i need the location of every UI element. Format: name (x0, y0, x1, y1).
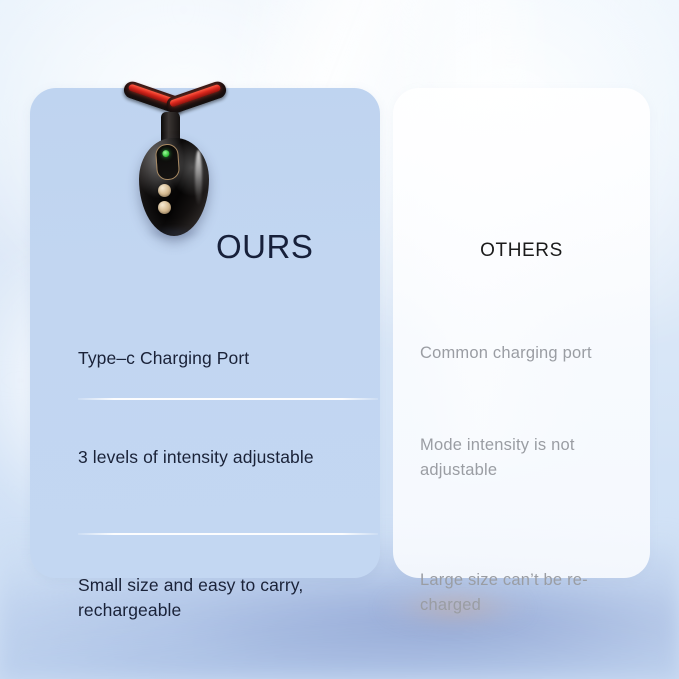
others-feature-1: Common charging port (420, 341, 638, 366)
product-device-icon (115, 90, 235, 240)
ours-divider-2 (78, 533, 378, 535)
comparison-infographic: OURS Type–c Charging Port 3 levels of in… (0, 0, 679, 679)
ours-header: OURS (30, 88, 380, 236)
ours-card: OURS Type–c Charging Port 3 levels of in… (30, 88, 380, 578)
device-drop-shadow (145, 228, 203, 238)
device-indicator-window (155, 143, 180, 181)
device-button-upper (158, 184, 171, 197)
others-heading: OTHERS (393, 240, 650, 262)
device-button-lower (158, 201, 171, 214)
device-gloss-highlight (195, 150, 202, 206)
device-led-panel-right (169, 84, 221, 108)
others-feature-3: Large size can’t be re-charged (420, 568, 638, 618)
ours-feature-2: 3 levels of intensity adjustable (78, 445, 378, 470)
others-feature-2: Mode intensity is not adjustable (420, 433, 638, 483)
ours-feature-3: Small size and easy to carry, rechargeab… (78, 573, 378, 624)
device-body (139, 138, 209, 236)
ours-heading: OURS (216, 228, 313, 266)
ours-divider-1 (78, 398, 378, 400)
others-card: OTHERS Common charging port Mode intensi… (393, 88, 650, 578)
device-power-indicator-icon (162, 150, 169, 157)
ours-feature-1: Type–c Charging Port (78, 346, 378, 371)
